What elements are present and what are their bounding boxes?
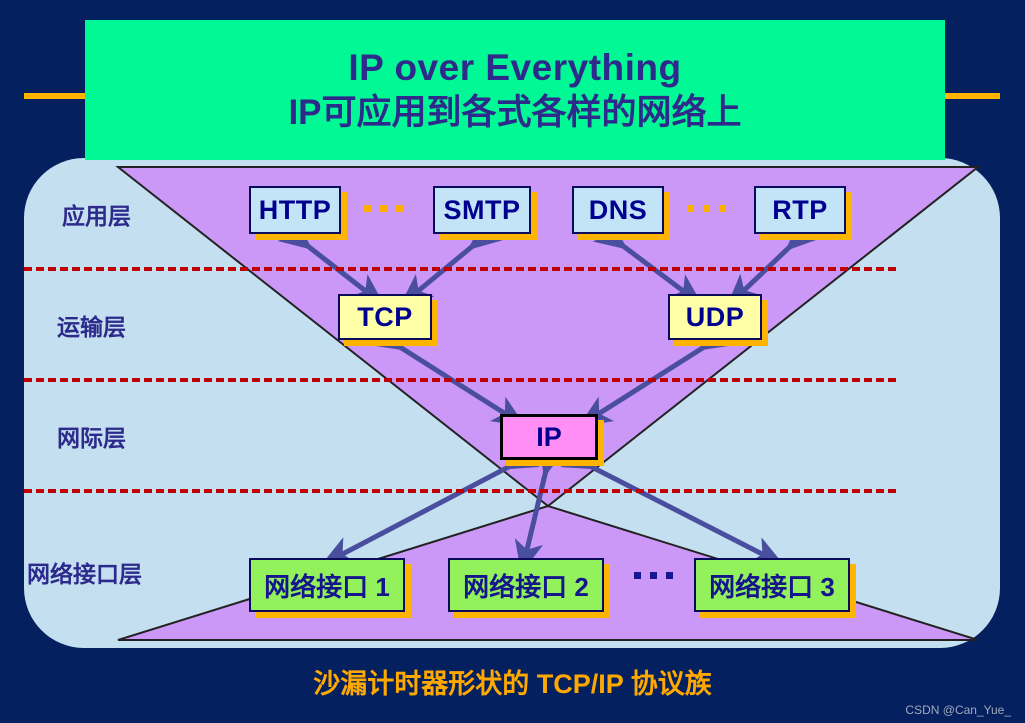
layer-label-application: 应用层 <box>62 197 131 231</box>
layer-label-transport: 运输层 <box>57 308 126 342</box>
protocol-box-udp[interactable]: UDP <box>668 294 762 340</box>
divider-internet-netif <box>24 489 896 493</box>
slide-canvas: IP over Everything IP可应用到各式各样的网络上 应用层 运输… <box>0 0 1025 723</box>
network-interface-box-1[interactable]: 网络接口 1 <box>249 558 405 612</box>
protocol-box-http[interactable]: HTTP <box>249 186 341 234</box>
divider-application-transport <box>24 267 896 271</box>
protocol-box-smtp[interactable]: SMTP <box>433 186 531 234</box>
protocol-box-tcp[interactable]: TCP <box>338 294 432 340</box>
ellipsis-app-right <box>687 205 726 212</box>
slide-caption: 沙漏计时器形状的 TCP/IP 协议族 <box>0 662 1025 701</box>
protocol-box-dns[interactable]: DNS <box>572 186 664 234</box>
network-interface-box-3[interactable]: 网络接口 3 <box>694 558 850 612</box>
layer-label-internet: 网际层 <box>57 419 126 453</box>
ellipsis-netif <box>634 572 673 579</box>
ellipsis-app-left <box>364 205 403 212</box>
title-banner: IP over Everything IP可应用到各式各样的网络上 <box>85 20 945 160</box>
network-interface-box-2[interactable]: 网络接口 2 <box>448 558 604 612</box>
title-english: IP over Everything <box>348 46 681 90</box>
watermark: CSDN @Can_Yue_ <box>905 703 1011 717</box>
divider-transport-internet <box>24 378 896 382</box>
protocol-box-ip[interactable]: IP <box>500 414 598 460</box>
layer-label-network-interface: 网络接口层 <box>27 555 142 589</box>
title-chinese: IP可应用到各式各样的网络上 <box>288 92 741 134</box>
protocol-box-rtp[interactable]: RTP <box>754 186 846 234</box>
